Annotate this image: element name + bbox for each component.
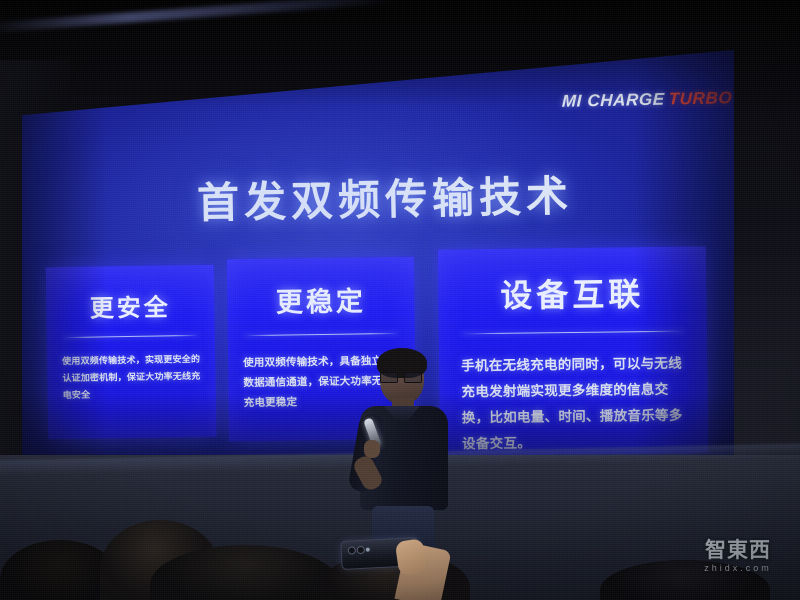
- photo-stage: MI CHARGETURBO 首发双频传输技术 更安全 使用双频传输技术，实现更…: [0, 0, 800, 600]
- watermark-logo-text: 智東西: [686, 540, 790, 562]
- camera-lens-icon: [348, 546, 356, 554]
- camera-lens-icon: [357, 546, 365, 554]
- audience-hand: [395, 538, 427, 576]
- watermark: 智東西 zhidx.com: [686, 540, 790, 592]
- presenter-glasses: [380, 372, 422, 382]
- presenter: [352, 352, 456, 552]
- camera-flash-icon: [366, 548, 370, 552]
- watermark-site-text: zhidx.com: [686, 562, 790, 574]
